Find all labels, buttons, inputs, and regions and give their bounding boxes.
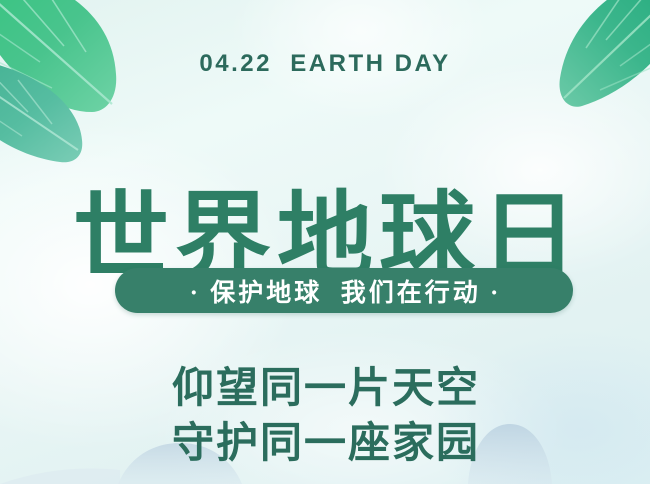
slogan-pill-text: · 保护地球 我们在行动 · [187, 273, 502, 309]
eyebrow-date-label: 04.22 EARTH DAY [0, 50, 650, 78]
tagline-block: 仰望同一片天空 守护同一座家园 [0, 362, 650, 472]
slogan-pill-banner: · 保护地球 我们在行动 · [115, 268, 573, 313]
tagline-line-2: 守护同一座家园 [0, 417, 650, 472]
poster-content: 04.22 EARTH DAY 世界地球日 · 保护地球 我们在行动 · 仰望同… [0, 0, 650, 484]
tagline-line-1: 仰望同一片天空 [0, 362, 650, 417]
earth-day-poster: 04.22 EARTH DAY 世界地球日 · 保护地球 我们在行动 · 仰望同… [0, 0, 650, 484]
